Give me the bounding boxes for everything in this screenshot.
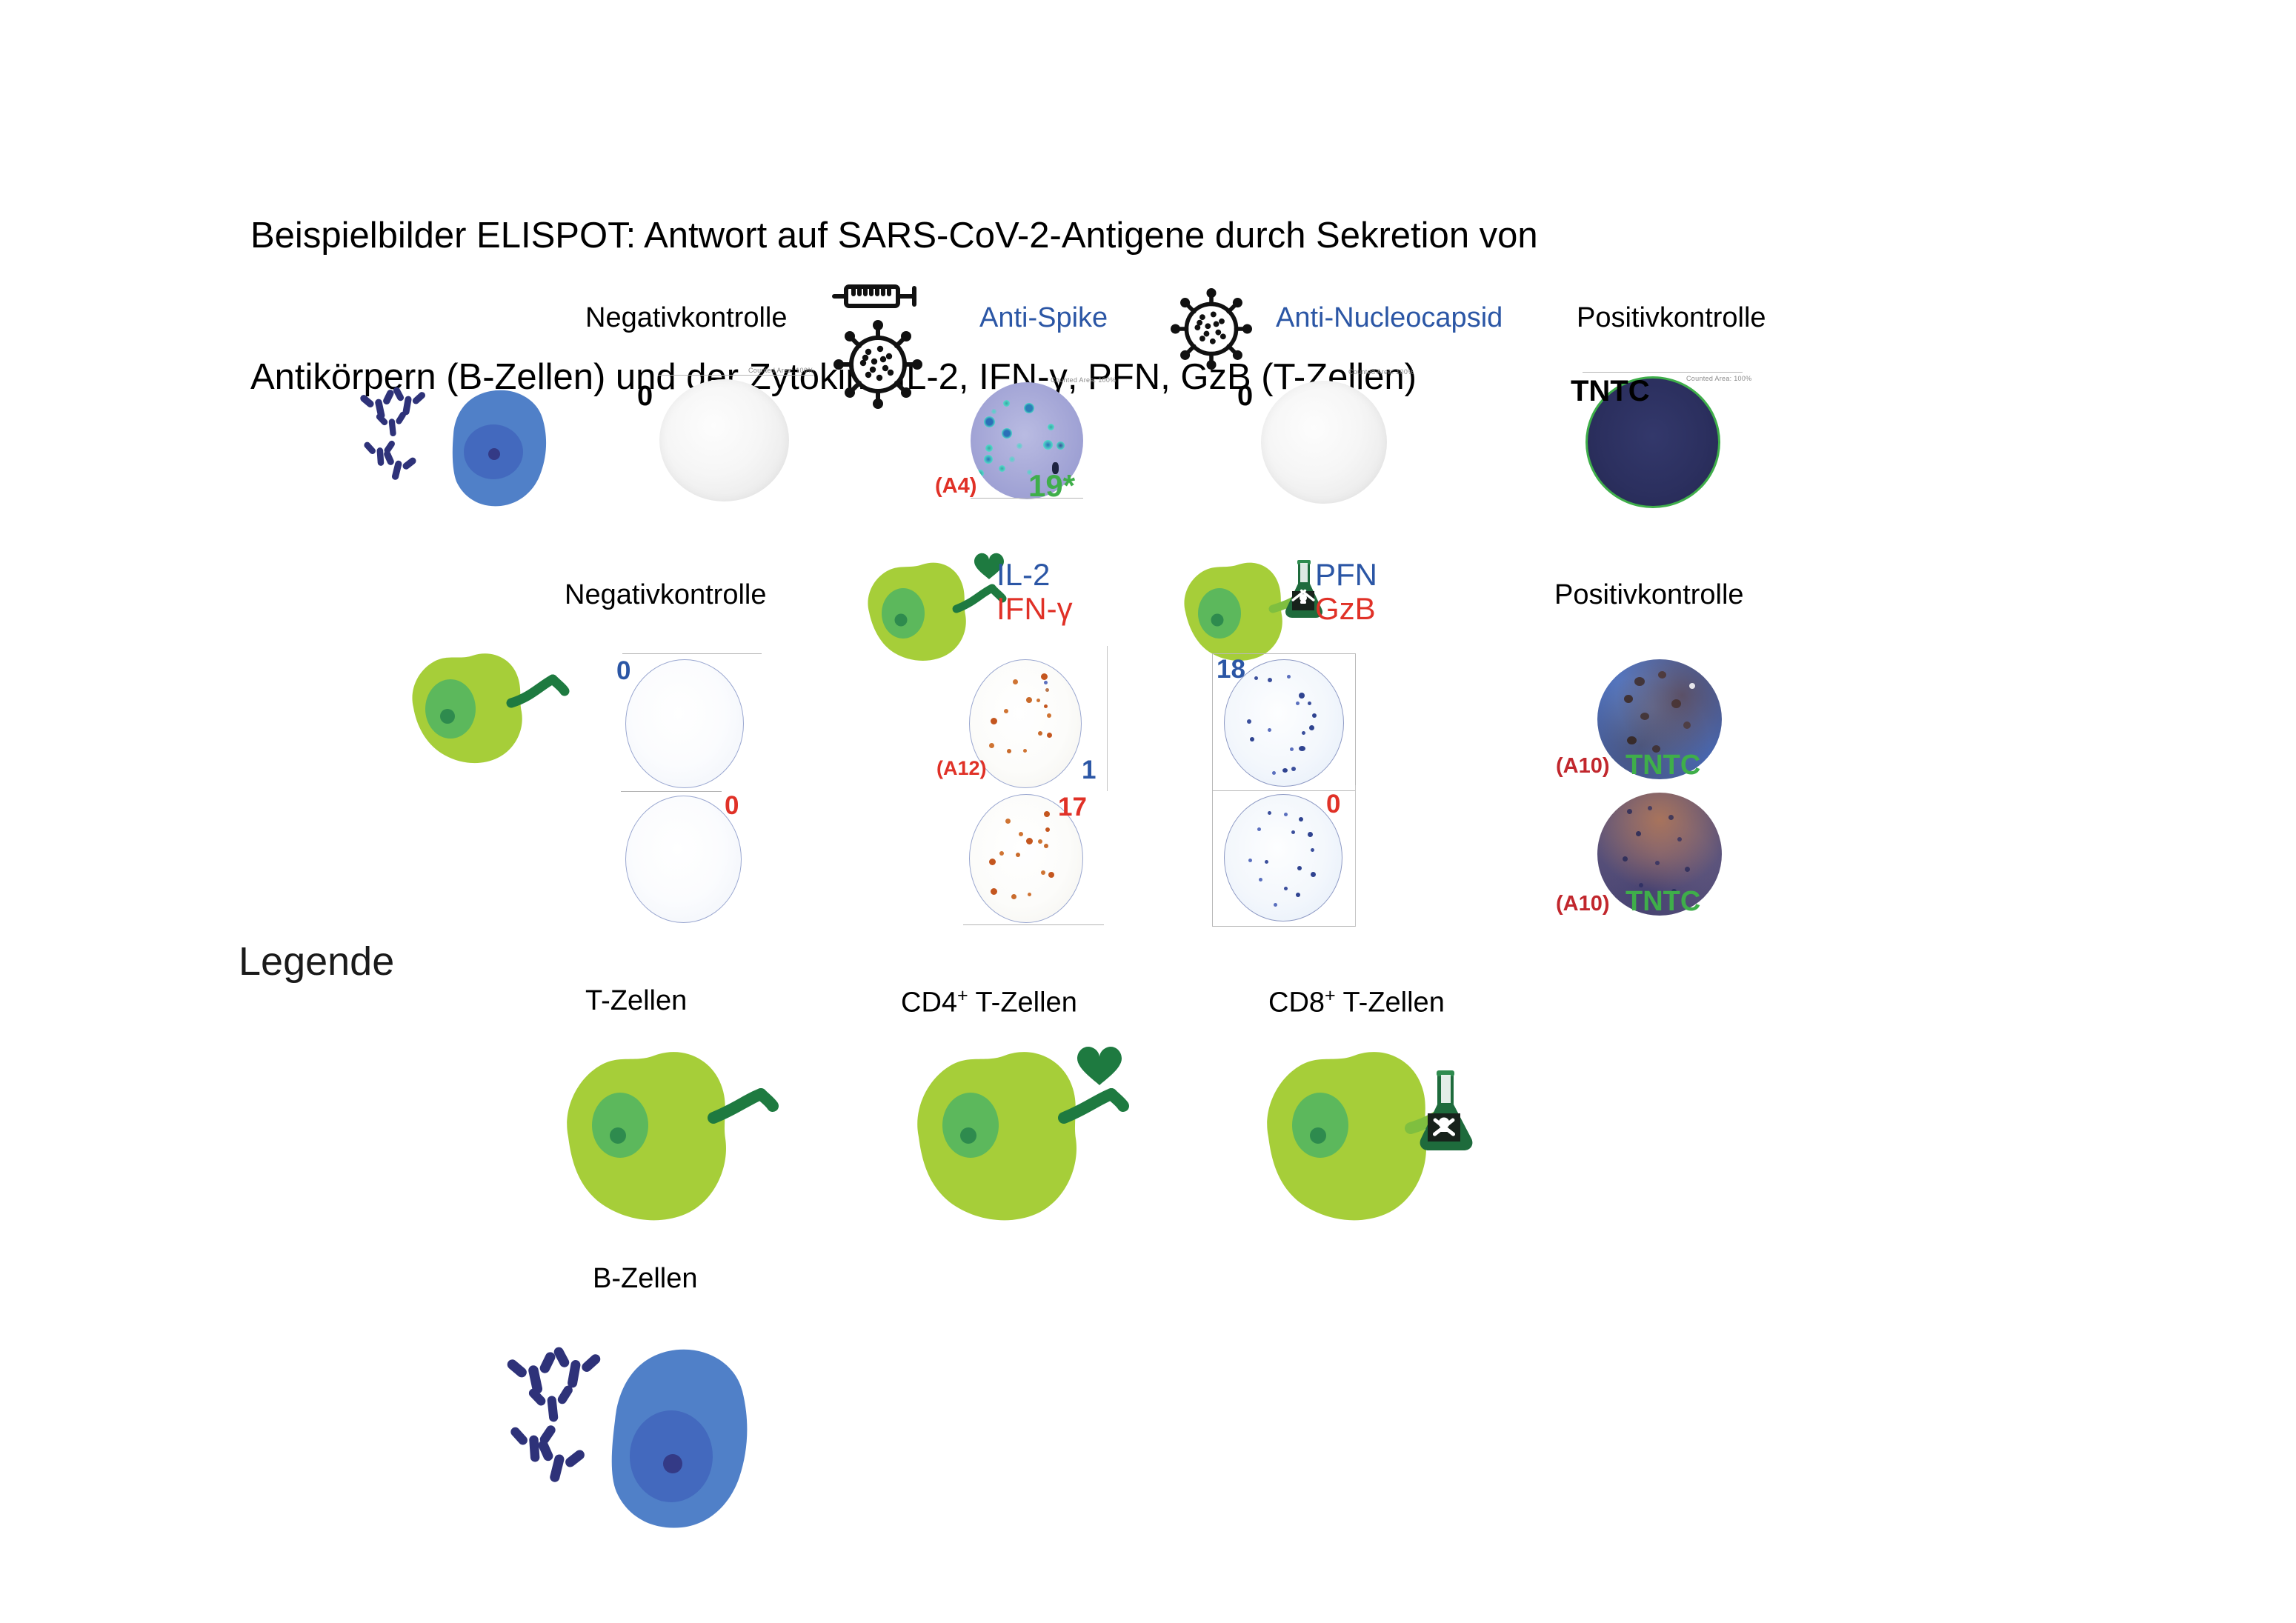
well-disc	[1261, 381, 1387, 504]
antibody-icon	[504, 1344, 603, 1488]
virus-icon	[1171, 285, 1252, 373]
well-disc	[659, 379, 789, 501]
well-count: 0	[725, 791, 739, 821]
well-count: 0	[616, 656, 630, 686]
t-cell-nucleus	[592, 1093, 648, 1158]
legend-label-t-zellen: T-Zellen	[585, 985, 687, 1017]
column-label-negativkontrolle-row1: Negativkontrolle	[585, 302, 787, 334]
t-cell-nucleus	[1198, 588, 1241, 639]
t-cell-nucleolus	[895, 614, 908, 627]
well-count: 0	[1237, 381, 1253, 413]
negative-control-well[interactable]: Counted Area: 100% 0	[637, 370, 822, 507]
b-cell-with-antibodies	[504, 1326, 815, 1563]
cd8-t-cell-flask-icon	[1252, 1026, 1504, 1241]
t-cell-icon	[370, 626, 585, 796]
cd4-t-cell-heart-icon	[902, 1026, 1139, 1241]
counted-area-label: Counted Area: 100%	[1051, 376, 1116, 384]
legend-label-cd8-tail: T-Zellen	[1336, 987, 1445, 1019]
well-header-rule	[621, 791, 722, 792]
syringe-and-virus-icon	[830, 278, 941, 407]
cytokine-label-ifng: IFN-γ	[996, 591, 1073, 627]
t-cell-nucleolus	[440, 709, 455, 724]
well-count: 0	[637, 381, 653, 413]
figure-title-line-1: Beispielbilder ELISPOT: Antwort auf SARS…	[250, 213, 1954, 260]
positive-control-lower-well[interactable]: (A10) TNTC	[1526, 793, 1734, 941]
well-disc	[1224, 794, 1342, 922]
syringe-icon	[834, 287, 914, 306]
cytokine-label-il2: IL-2	[996, 557, 1050, 593]
positive-control-well[interactable]: Counted Area: 100% TNTC	[1571, 363, 1763, 511]
well-id: (A4)	[935, 474, 976, 499]
column-label-negativkontrolle-row2: Negativkontrolle	[565, 579, 766, 611]
positive-control-upper-well[interactable]: (A10) TNTC	[1526, 659, 1734, 807]
legend-label-cd4-tail: T-Zellen	[968, 987, 1077, 1019]
well-count: 17	[1058, 793, 1087, 822]
column-label-anti-nucleocapsid: Anti-Nucleocapsid	[1276, 302, 1503, 334]
antibody-icon	[358, 385, 427, 484]
well-count: 19*	[1028, 468, 1075, 504]
well-id: (A10)	[1556, 892, 1610, 916]
well-header-rule	[622, 653, 762, 654]
well-count: 1	[1082, 756, 1096, 785]
ifng-well[interactable]: 17	[956, 787, 1141, 931]
anti-spike-well[interactable]: Counted Area: 100% (A4) 19*	[971, 370, 1156, 511]
well-count: TNTC	[1625, 750, 1700, 781]
t-cell-nucleolus	[960, 1127, 976, 1144]
column-label-anti-spike: Anti-Spike	[979, 302, 1108, 334]
t-cell-icon	[552, 1026, 774, 1241]
negative-control-ifng-well[interactable]: 0	[615, 787, 793, 927]
legend-label-cd4-t-zellen: CD4+ T-Zellen	[901, 985, 1077, 1019]
t-cell-nucleolus	[1310, 1127, 1326, 1144]
column-label-positivkontrolle-row2: Positivkontrolle	[1554, 579, 1744, 611]
legend-label-cd8-t-zellen: CD8+ T-Zellen	[1268, 985, 1445, 1019]
t-cell-nucleus	[942, 1093, 999, 1158]
t-cell-nucleus	[425, 679, 476, 739]
b-cell-with-antibodies	[356, 370, 608, 533]
counted-area-label: Counted Area: 100%	[1686, 375, 1751, 382]
well-header-rule	[1583, 372, 1743, 373]
well-header-rule	[658, 375, 813, 376]
well-footer-rule	[963, 924, 1104, 925]
heart-icon	[1077, 1047, 1122, 1085]
well-count: TNTC	[1625, 886, 1700, 918]
il2-well[interactable]: (A12) 1	[956, 652, 1141, 796]
legend-label-b-zellen: B-Zellen	[593, 1263, 698, 1295]
pfn-well[interactable]: 18	[1185, 650, 1371, 795]
well-count: 18	[1217, 655, 1245, 684]
t-cell-nucleolus	[1211, 614, 1224, 627]
b-cell-nucleolus	[488, 448, 500, 460]
counted-area-label: Counted Area: 100%	[1348, 368, 1414, 376]
well-right-rule	[1107, 646, 1108, 791]
legend-heading: Legende	[239, 939, 394, 984]
column-label-positivkontrolle-row1: Positivkontrolle	[1577, 302, 1766, 334]
t-cell-nucleus	[882, 588, 925, 639]
anti-nucleocapsid-well[interactable]: Counted Area: 100% 0	[1236, 370, 1421, 507]
poison-flask-icon	[1420, 1070, 1473, 1150]
negative-control-il2-well[interactable]: 0	[615, 652, 793, 793]
well-count: 0	[1326, 790, 1340, 819]
legend-label-cd8-sup: +	[1325, 985, 1336, 1006]
t-cell-nucleus	[1292, 1093, 1348, 1158]
legend-label-cd8-main: CD8	[1268, 987, 1325, 1019]
cytokine-label-pfn: PFN	[1315, 557, 1377, 593]
well-count: TNTC	[1571, 375, 1650, 408]
well-disc	[625, 659, 744, 788]
legend-label-cd4-main: CD4	[901, 987, 957, 1019]
b-cell-nucleolus	[663, 1454, 682, 1473]
cytokine-label-gzb: GzB	[1315, 591, 1376, 627]
gzb-well[interactable]: 0	[1185, 785, 1371, 933]
counted-area-label: Counted Area: 100%	[748, 367, 813, 374]
well-id: (A12)	[936, 757, 987, 780]
t-cell-nucleolus	[610, 1127, 626, 1144]
legend-label-cd4-sup: +	[957, 985, 968, 1006]
well-id: (A10)	[1556, 754, 1610, 779]
virus-icon	[833, 320, 922, 409]
